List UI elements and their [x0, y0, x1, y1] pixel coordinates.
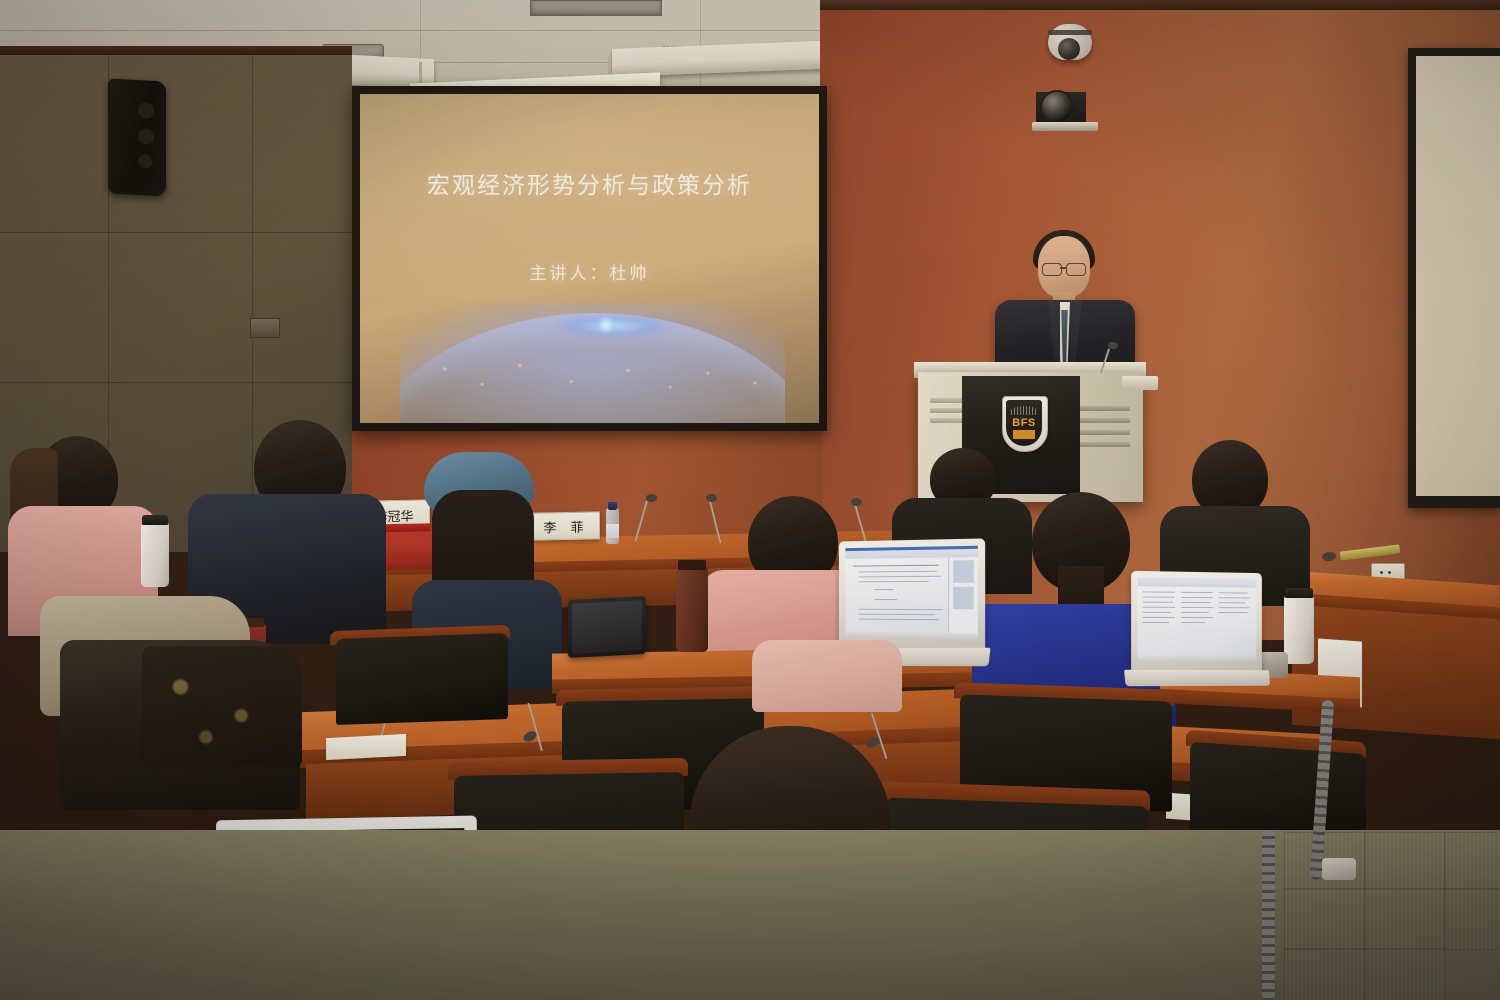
- wall-speaker: [108, 78, 166, 196]
- bottle-cap: [608, 502, 617, 510]
- lecture-hall-photo: 宏观经济形势分析与政策分析 主讲人：杜帅: [0, 0, 1500, 1000]
- laptop-base[interactable]: [1124, 670, 1270, 686]
- draped-coat-pink: [752, 640, 902, 712]
- laptop-screen: [845, 546, 977, 640]
- air-vent-icon: [530, 0, 662, 16]
- slide-title: 宏观经济形势分析与政策分析: [360, 166, 819, 200]
- name-placard: 李 菲: [532, 511, 600, 540]
- patterned-coat: [142, 646, 302, 766]
- microphone-head: [1108, 342, 1118, 349]
- chair[interactable]: [336, 633, 508, 725]
- wall-cornice: [0, 46, 352, 55]
- sun-flare-core: [593, 317, 619, 333]
- wall-panel-plate: [250, 318, 280, 338]
- wall-cornice: [820, 0, 1500, 10]
- thermos-cap: [678, 560, 706, 570]
- presentation-slide: 宏观经济形势分析与政策分析 主讲人：杜帅: [360, 94, 819, 423]
- water-bottle[interactable]: [606, 508, 619, 544]
- white-thermos[interactable]: [141, 521, 169, 587]
- camera-mount-shelf: [1032, 122, 1098, 131]
- camera-lens-icon: [1058, 38, 1080, 60]
- glasses-icon: [1066, 263, 1086, 276]
- carpet-floor: [0, 830, 1500, 1000]
- bfs-logo-text: BFS: [1006, 417, 1042, 429]
- thermos-cap: [1285, 588, 1313, 598]
- glasses-bridge: [1060, 267, 1066, 269]
- microphone-head: [646, 494, 657, 502]
- camera-lens-icon: [1040, 90, 1074, 124]
- bfs-logo: BFS: [1002, 396, 1046, 450]
- laptop[interactable]: [1131, 571, 1262, 675]
- camera-band: [1048, 30, 1092, 35]
- laptop-screen: [1137, 577, 1256, 663]
- secondary-projection-screen: [1416, 56, 1500, 496]
- podium-paper: [1122, 376, 1158, 390]
- glasses-icon: [1042, 263, 1062, 276]
- cable-conduit: [1262, 830, 1275, 1000]
- white-thermos[interactable]: [1284, 594, 1314, 664]
- thermos-cap: [142, 515, 168, 525]
- main-projection-screen: 宏观经济形势分析与政策分析 主讲人：杜帅: [360, 94, 819, 423]
- slide-subtitle: 主讲人：杜帅: [360, 259, 819, 284]
- laptop[interactable]: [839, 538, 985, 653]
- shoe: [1322, 858, 1356, 880]
- draped-coat-cream: [556, 612, 766, 698]
- notepad[interactable]: [326, 734, 406, 760]
- microphone-head: [851, 498, 862, 506]
- microphone-head: [706, 494, 717, 502]
